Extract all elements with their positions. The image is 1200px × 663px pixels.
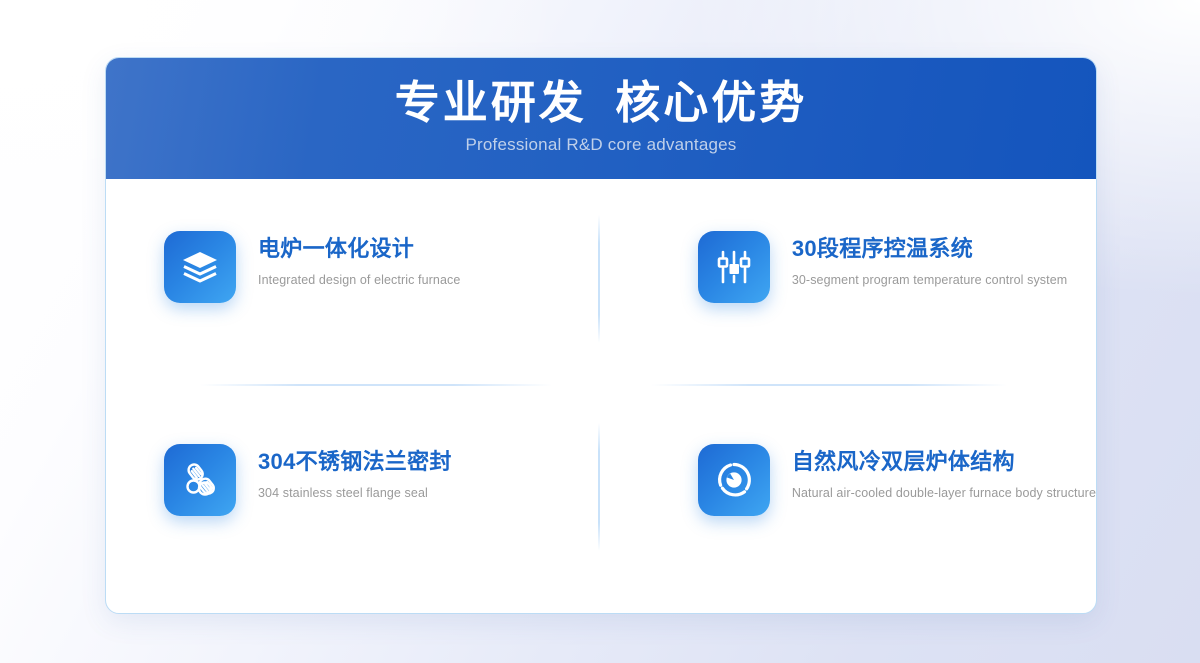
feature-text-block: 电炉一体化设计 Integrated design of electric fu… (236, 231, 460, 288)
equalizer-sliders-icon (698, 231, 770, 303)
feature-subtitle: Integrated design of electric furnace (258, 263, 460, 288)
page-title: 专业研发 核心优势 (106, 58, 1096, 127)
feature-subtitle: 304 stainless steel flange seal (258, 476, 452, 501)
page-background: 专业研发 核心优势 Professional R&D core advantag… (0, 0, 1200, 663)
air-cooling-fan-icon (698, 444, 770, 516)
feature-item-temperature-control[interactable]: 30段程序控温系统 30-segment program temperature… (594, 179, 1096, 396)
feature-item-flange-seal[interactable]: 304不锈钢法兰密封 304 stainless steel flange se… (106, 396, 594, 613)
page-subtitle: Professional R&D core advantages (106, 127, 1096, 155)
feature-title: 自然风冷双层炉体结构 (792, 448, 1096, 476)
feature-subtitle: 30-segment program temperature control s… (792, 263, 1067, 288)
features-body: 电炉一体化设计 Integrated design of electric fu… (106, 179, 1096, 613)
steel-pipes-icon (164, 444, 236, 516)
feature-title: 304不锈钢法兰密封 (258, 448, 452, 476)
feature-title: 电炉一体化设计 (258, 235, 460, 263)
feature-item-integrated-design[interactable]: 电炉一体化设计 Integrated design of electric fu… (106, 179, 594, 396)
feature-subtitle: Natural air-cooled double-layer furnace … (792, 476, 1096, 501)
feature-text-block: 自然风冷双层炉体结构 Natural air-cooled double-lay… (770, 444, 1096, 501)
advantages-card: 专业研发 核心优势 Professional R&D core advantag… (105, 57, 1097, 614)
card-header-banner: 专业研发 核心优势 Professional R&D core advantag… (106, 58, 1096, 179)
feature-text-block: 30段程序控温系统 30-segment program temperature… (770, 231, 1067, 288)
feature-title: 30段程序控温系统 (792, 235, 1067, 263)
feature-text-block: 304不锈钢法兰密封 304 stainless steel flange se… (236, 444, 452, 501)
layers-icon (164, 231, 236, 303)
feature-item-air-cooled-structure[interactable]: 自然风冷双层炉体结构 Natural air-cooled double-lay… (594, 396, 1096, 613)
features-grid: 电炉一体化设计 Integrated design of electric fu… (106, 179, 1096, 613)
